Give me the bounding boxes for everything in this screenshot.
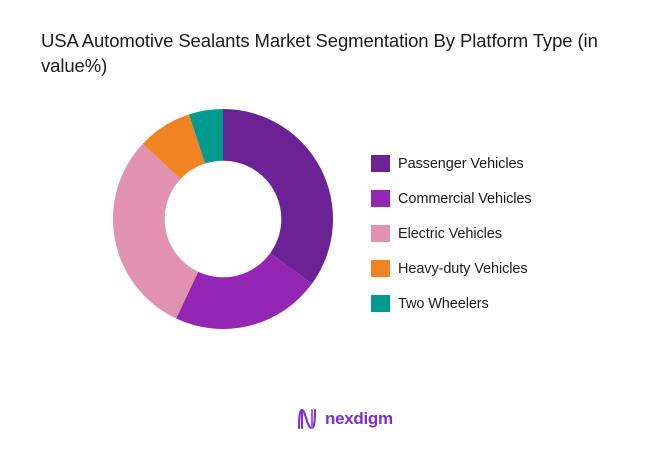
- legend-item[interactable]: Two Wheelers: [371, 286, 611, 321]
- legend-label: Heavy-duty Vehicles: [398, 261, 527, 277]
- nexdigm-n-icon: [296, 407, 318, 431]
- legend-item[interactable]: Heavy-duty Vehicles: [371, 251, 611, 286]
- donut-slice[interactable]: [223, 109, 333, 284]
- legend-swatch: [371, 190, 390, 207]
- legend-label: Two Wheelers: [398, 296, 489, 312]
- legend-swatch: [371, 295, 390, 312]
- legend-swatch: [371, 260, 390, 277]
- legend-swatch: [371, 225, 390, 242]
- legend-item[interactable]: Passenger Vehicles: [371, 146, 611, 181]
- chart-card: USA Automotive Sealants Market Segmentat…: [0, 0, 667, 458]
- brand-name: nexdigm: [325, 409, 393, 429]
- legend-label: Commercial Vehicles: [398, 191, 531, 207]
- brand-logo: nexdigm: [296, 404, 393, 434]
- legend-item[interactable]: Commercial Vehicles: [371, 181, 611, 216]
- chart-title: USA Automotive Sealants Market Segmentat…: [41, 28, 631, 78]
- donut-slice-group: [113, 109, 333, 329]
- chart-legend: Passenger VehiclesCommercial VehiclesEle…: [371, 146, 611, 321]
- legend-label: Electric Vehicles: [398, 226, 502, 242]
- donut-chart: [112, 108, 334, 330]
- donut-chart-svg: [112, 108, 334, 330]
- legend-label: Passenger Vehicles: [398, 156, 524, 172]
- legend-swatch: [371, 155, 390, 172]
- legend-item[interactable]: Electric Vehicles: [371, 216, 611, 251]
